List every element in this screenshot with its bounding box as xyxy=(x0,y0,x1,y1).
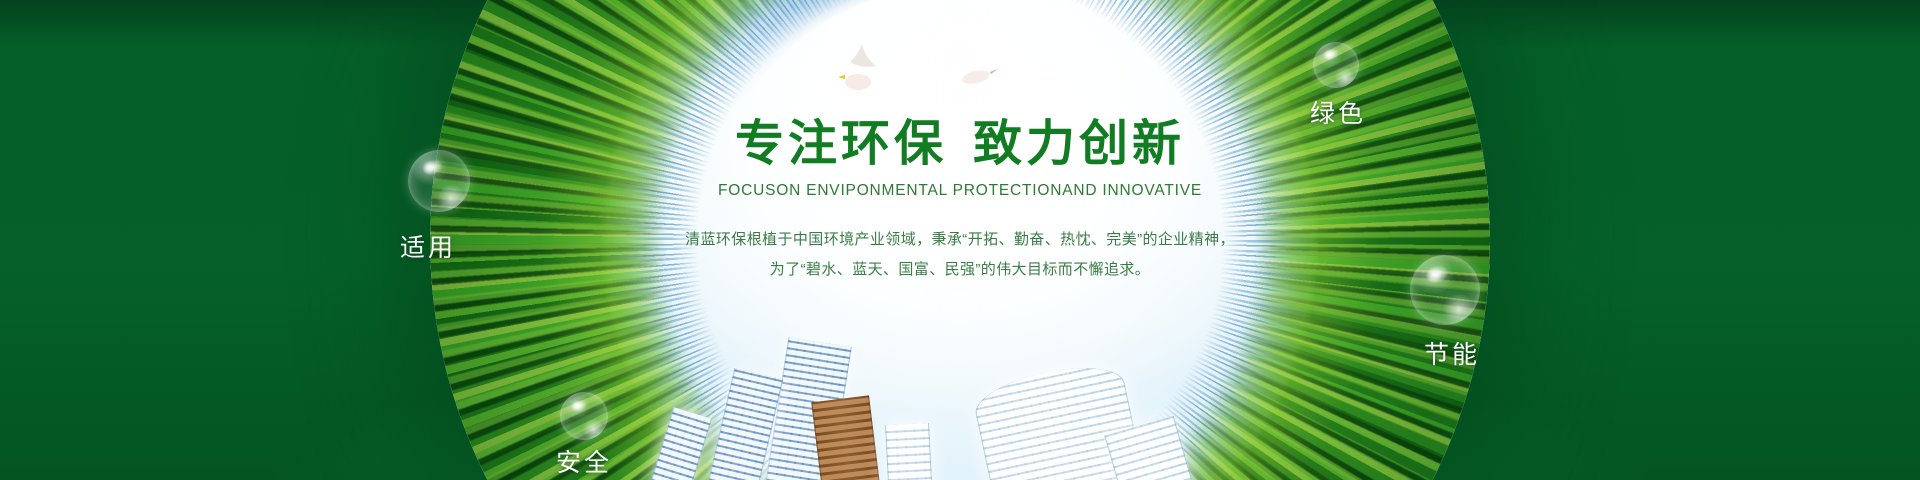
seagull-left-icon xyxy=(800,38,904,96)
headline-part-2: 致力创新 xyxy=(973,117,1185,171)
bubble-label-anquan: 安全 xyxy=(556,443,612,479)
page-title: 专注环保致力创新 xyxy=(0,120,1920,169)
subheadline: FOCUSON ENVIPONMENTAL PROTECTIONAND INNO… xyxy=(0,182,1920,200)
body-line-1: 清蓝环保根植于中国环境产业领域，秉承“开拓、勤奋、热忱、完美”的企业精神， xyxy=(0,225,1920,255)
body-copy: 清蓝环保根植于中国环境产业领域，秉承“开拓、勤奋、热忱、完美”的企业精神， 为了… xyxy=(0,225,1920,285)
body-line-2: 为了“碧水、蓝天、国富、民强”的伟大目标而不懈追求。 xyxy=(0,255,1920,285)
copy-block: 专注环保致力创新 FOCUSON ENVIPONMENTAL PROTECTIO… xyxy=(0,120,1920,285)
bubble-anquan xyxy=(560,392,608,440)
bubble-label-jieneng: 节能 xyxy=(1424,335,1480,371)
seagull-right-icon xyxy=(930,48,1012,94)
bubble-lvse xyxy=(1313,42,1359,88)
hero-banner: 适用 安全 绿色 节能 专注环保致力创新 FOCUSON ENVIPONMENT… xyxy=(0,0,1920,480)
headline-part-1: 专注环保 xyxy=(735,117,947,171)
